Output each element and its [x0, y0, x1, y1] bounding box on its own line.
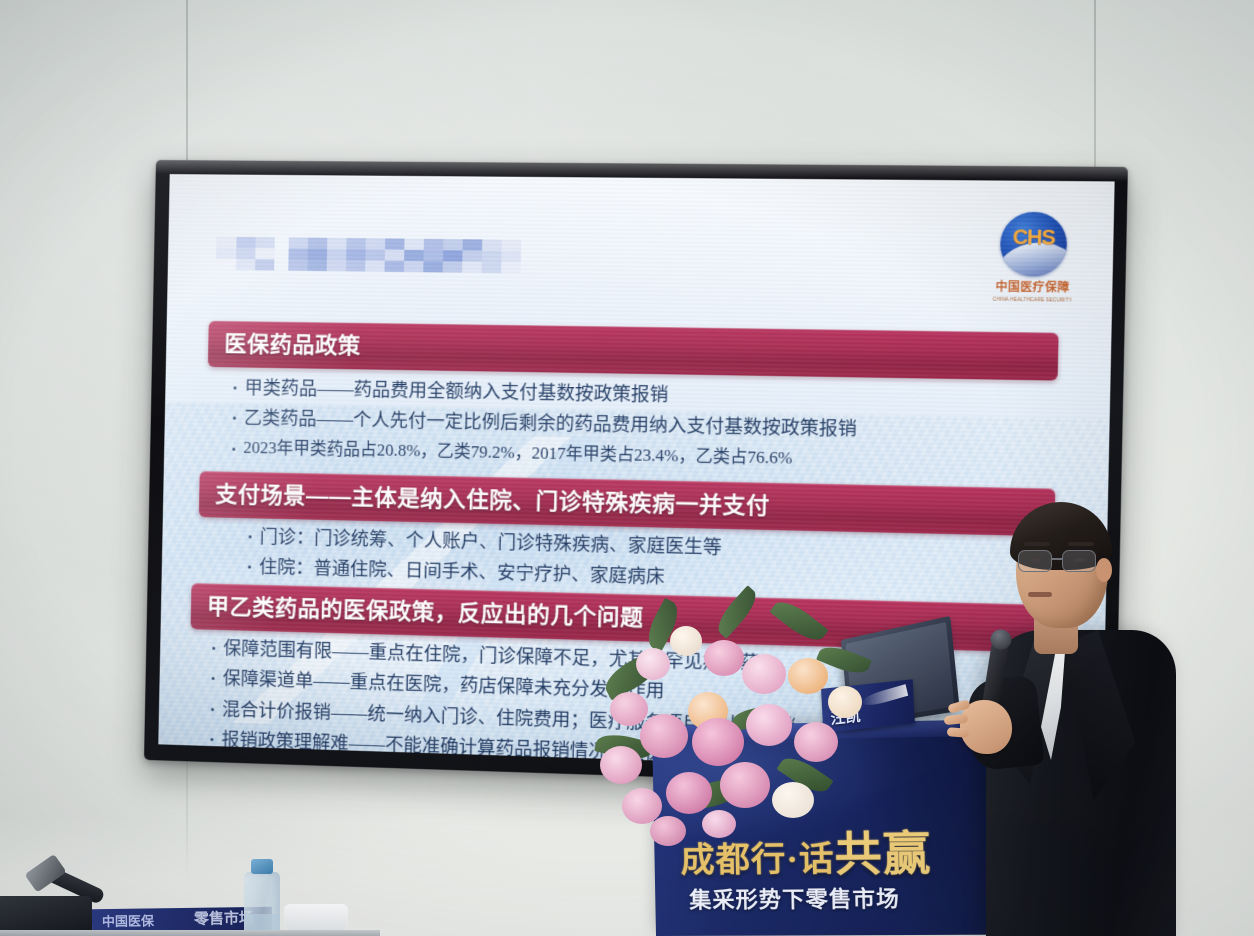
logo-cn-name: 中国医疗保障	[985, 281, 1080, 295]
glasses-lens-right	[1062, 550, 1096, 572]
podium-headline-prefix: 成都行·话	[680, 841, 835, 880]
bottle-cap	[251, 859, 273, 874]
bullet-text: 乙类药品——个人先付一定比例后剩余的药品费用纳入支付基数按政策报销	[244, 406, 857, 442]
flower-arrangement	[592, 596, 922, 846]
glasses-icon	[1016, 550, 1112, 574]
logo-en-name: CHINA HEALTHCARE SECURITY	[985, 296, 1080, 303]
water-bottle[interactable]	[244, 872, 280, 936]
speaker-person	[968, 488, 1198, 936]
mosaic-block-b	[288, 237, 525, 273]
bottle-label	[244, 914, 280, 930]
table-edge	[0, 930, 380, 936]
section-bullets-1: 甲类药品——药品费用全额纳入支付基数按政策报销 乙类药品——个人先付一定比例后剩…	[232, 375, 1055, 481]
nameplate-left-text: 中国医保	[102, 914, 154, 928]
bullet-dot-icon	[212, 677, 215, 680]
bullet-dot-icon	[211, 708, 214, 711]
podium-subtitle: 集采形势下零售市场	[689, 888, 900, 912]
bullet-dot-icon	[249, 535, 252, 538]
glasses-bridge	[1052, 558, 1062, 560]
bullet-dot-icon	[212, 647, 215, 650]
section-header-text-2: 支付场景——主体是纳入住院、门诊特殊疾病一并支付	[215, 483, 770, 517]
logo-mark-text: CHS	[1000, 227, 1067, 248]
bullet-dot-icon	[210, 738, 213, 741]
speaker-brow-right	[1068, 542, 1094, 546]
speaker-mouth	[1028, 592, 1052, 597]
slide-title-redacted	[216, 237, 526, 274]
section-header-text-3: 甲乙类药品的医保政策，反应出的几个问题	[207, 596, 644, 630]
bullet-dot-icon	[234, 386, 237, 389]
bullet-dot-icon	[232, 447, 235, 450]
speaker-hand	[960, 700, 1012, 754]
bullet-text: 住院：普通住院、日间手术、安宁疗护、家庭病床	[259, 555, 665, 590]
bullet-dot-icon	[248, 566, 251, 569]
bullet-text: 甲类药品——药品费用全额纳入支付基数按政策报销	[244, 376, 668, 408]
mosaic-block-a	[216, 237, 275, 271]
speaker-brow-left	[1024, 542, 1050, 546]
conference-photo-scene: CHS 中国医疗保障 CHINA HEALTHCARE SECURITY 医保药…	[0, 0, 1254, 936]
section-header-text-1: 医保药品政策	[224, 333, 361, 357]
bullet-text: 2023年甲类药品占20.8%，乙类79.2%，2017年甲类占23.4%，乙类…	[243, 436, 792, 469]
chs-logo: CHS 中国医疗保障 CHINA HEALTHCARE SECURITY	[985, 212, 1081, 303]
glasses-lens-left	[1018, 550, 1052, 572]
logo-disc-icon: CHS	[1000, 212, 1068, 277]
section-header-bar-1: 医保药品政策	[208, 321, 1059, 381]
bullet-dot-icon	[233, 417, 236, 420]
